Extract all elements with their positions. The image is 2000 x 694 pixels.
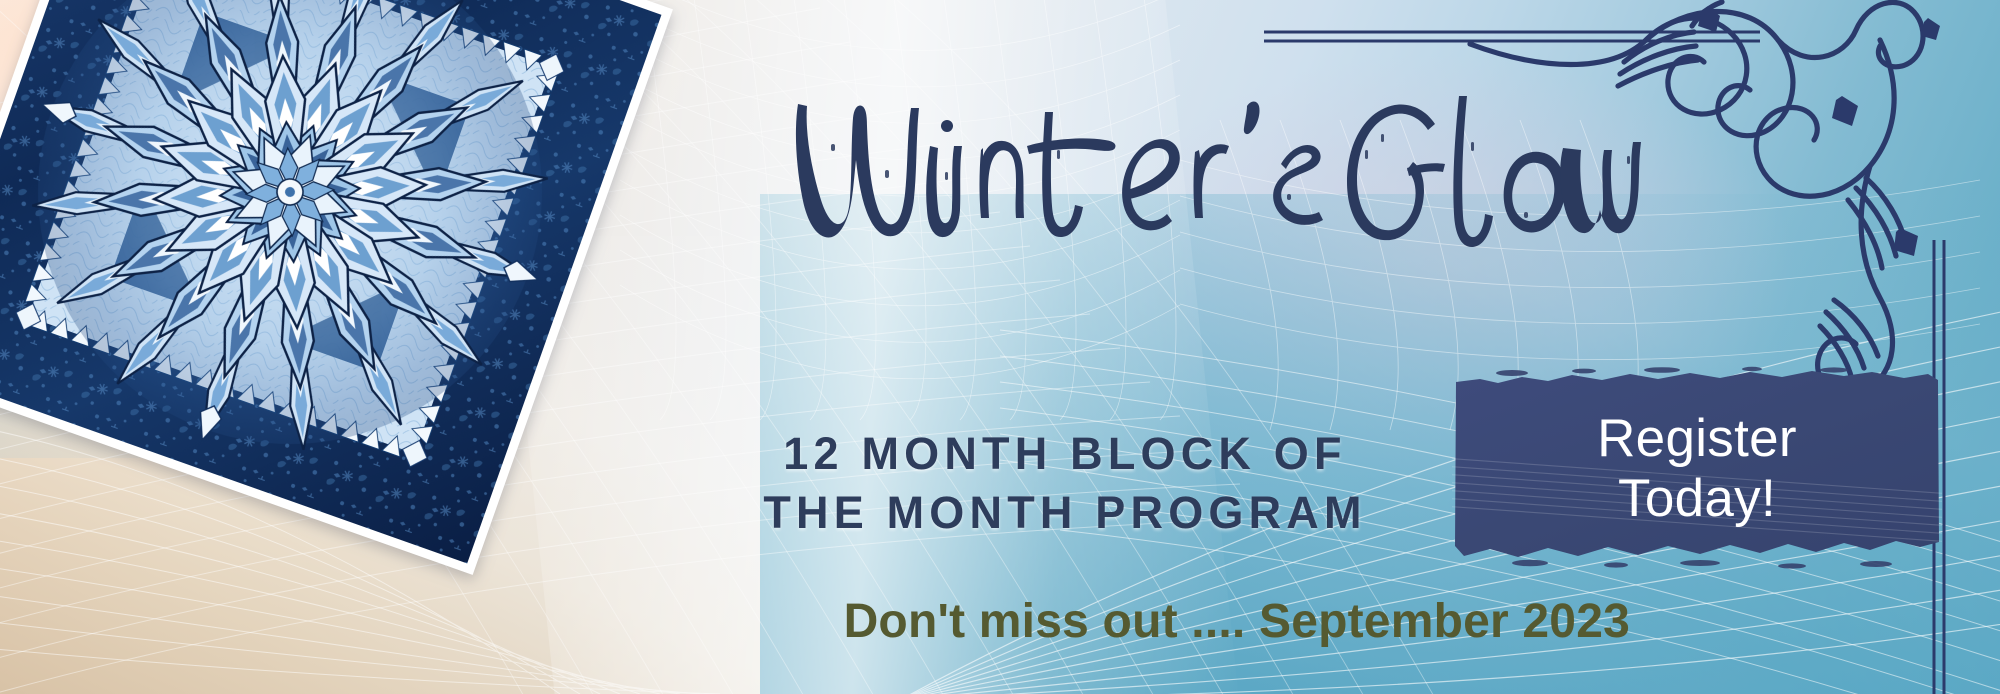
headline: 12 MONTH BLOCK OF THE MONTH PROGRAM (700, 425, 1430, 542)
page-title (795, 72, 1625, 262)
header-rule-lines (1262, 26, 1762, 48)
register-button-line-2: Today! (1618, 469, 1776, 528)
tagline: Don't miss out .... September 2023 (700, 594, 1630, 649)
register-today-button[interactable]: Register Today! (1452, 366, 1942, 571)
winters-glow-banner: 12 MONTH BLOCK OF THE MONTH PROGRAM (0, 0, 2000, 694)
headline-line-2: THE MONTH PROGRAM (700, 484, 1430, 543)
headline-line-1: 12 MONTH BLOCK OF (700, 425, 1430, 484)
register-button-line-1: Register (1597, 409, 1797, 468)
